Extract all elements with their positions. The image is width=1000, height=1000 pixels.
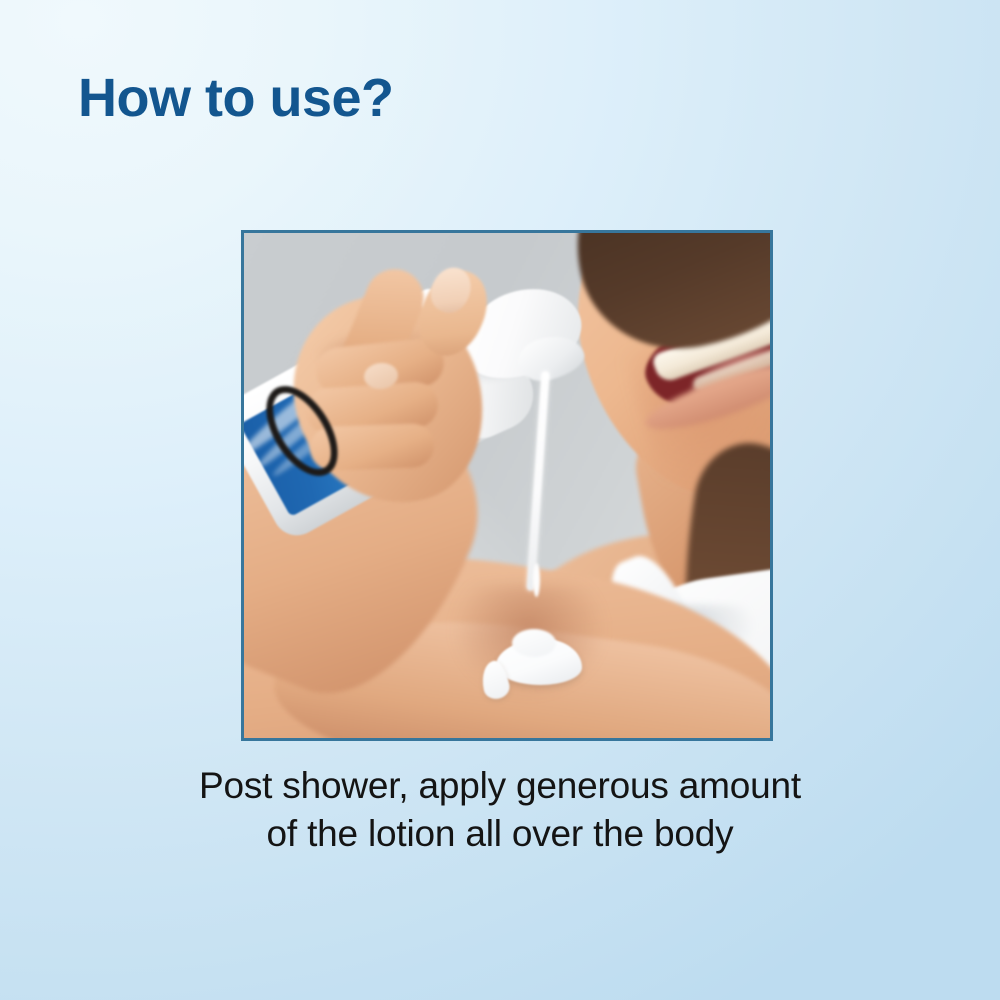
- how-to-use-poster: How to use?: [0, 0, 1000, 1000]
- caption-line-1: Post shower, apply generous amount: [0, 762, 1000, 810]
- instruction-photo: [244, 233, 770, 738]
- instruction-caption: Post shower, apply generous amount of th…: [0, 762, 1000, 858]
- cream-blob-highlight: [512, 629, 556, 657]
- lotion-stream-tail: [533, 563, 540, 597]
- instruction-photo-frame: [241, 230, 773, 741]
- caption-line-2: of the lotion all over the body: [0, 810, 1000, 858]
- page-title: How to use?: [78, 70, 394, 127]
